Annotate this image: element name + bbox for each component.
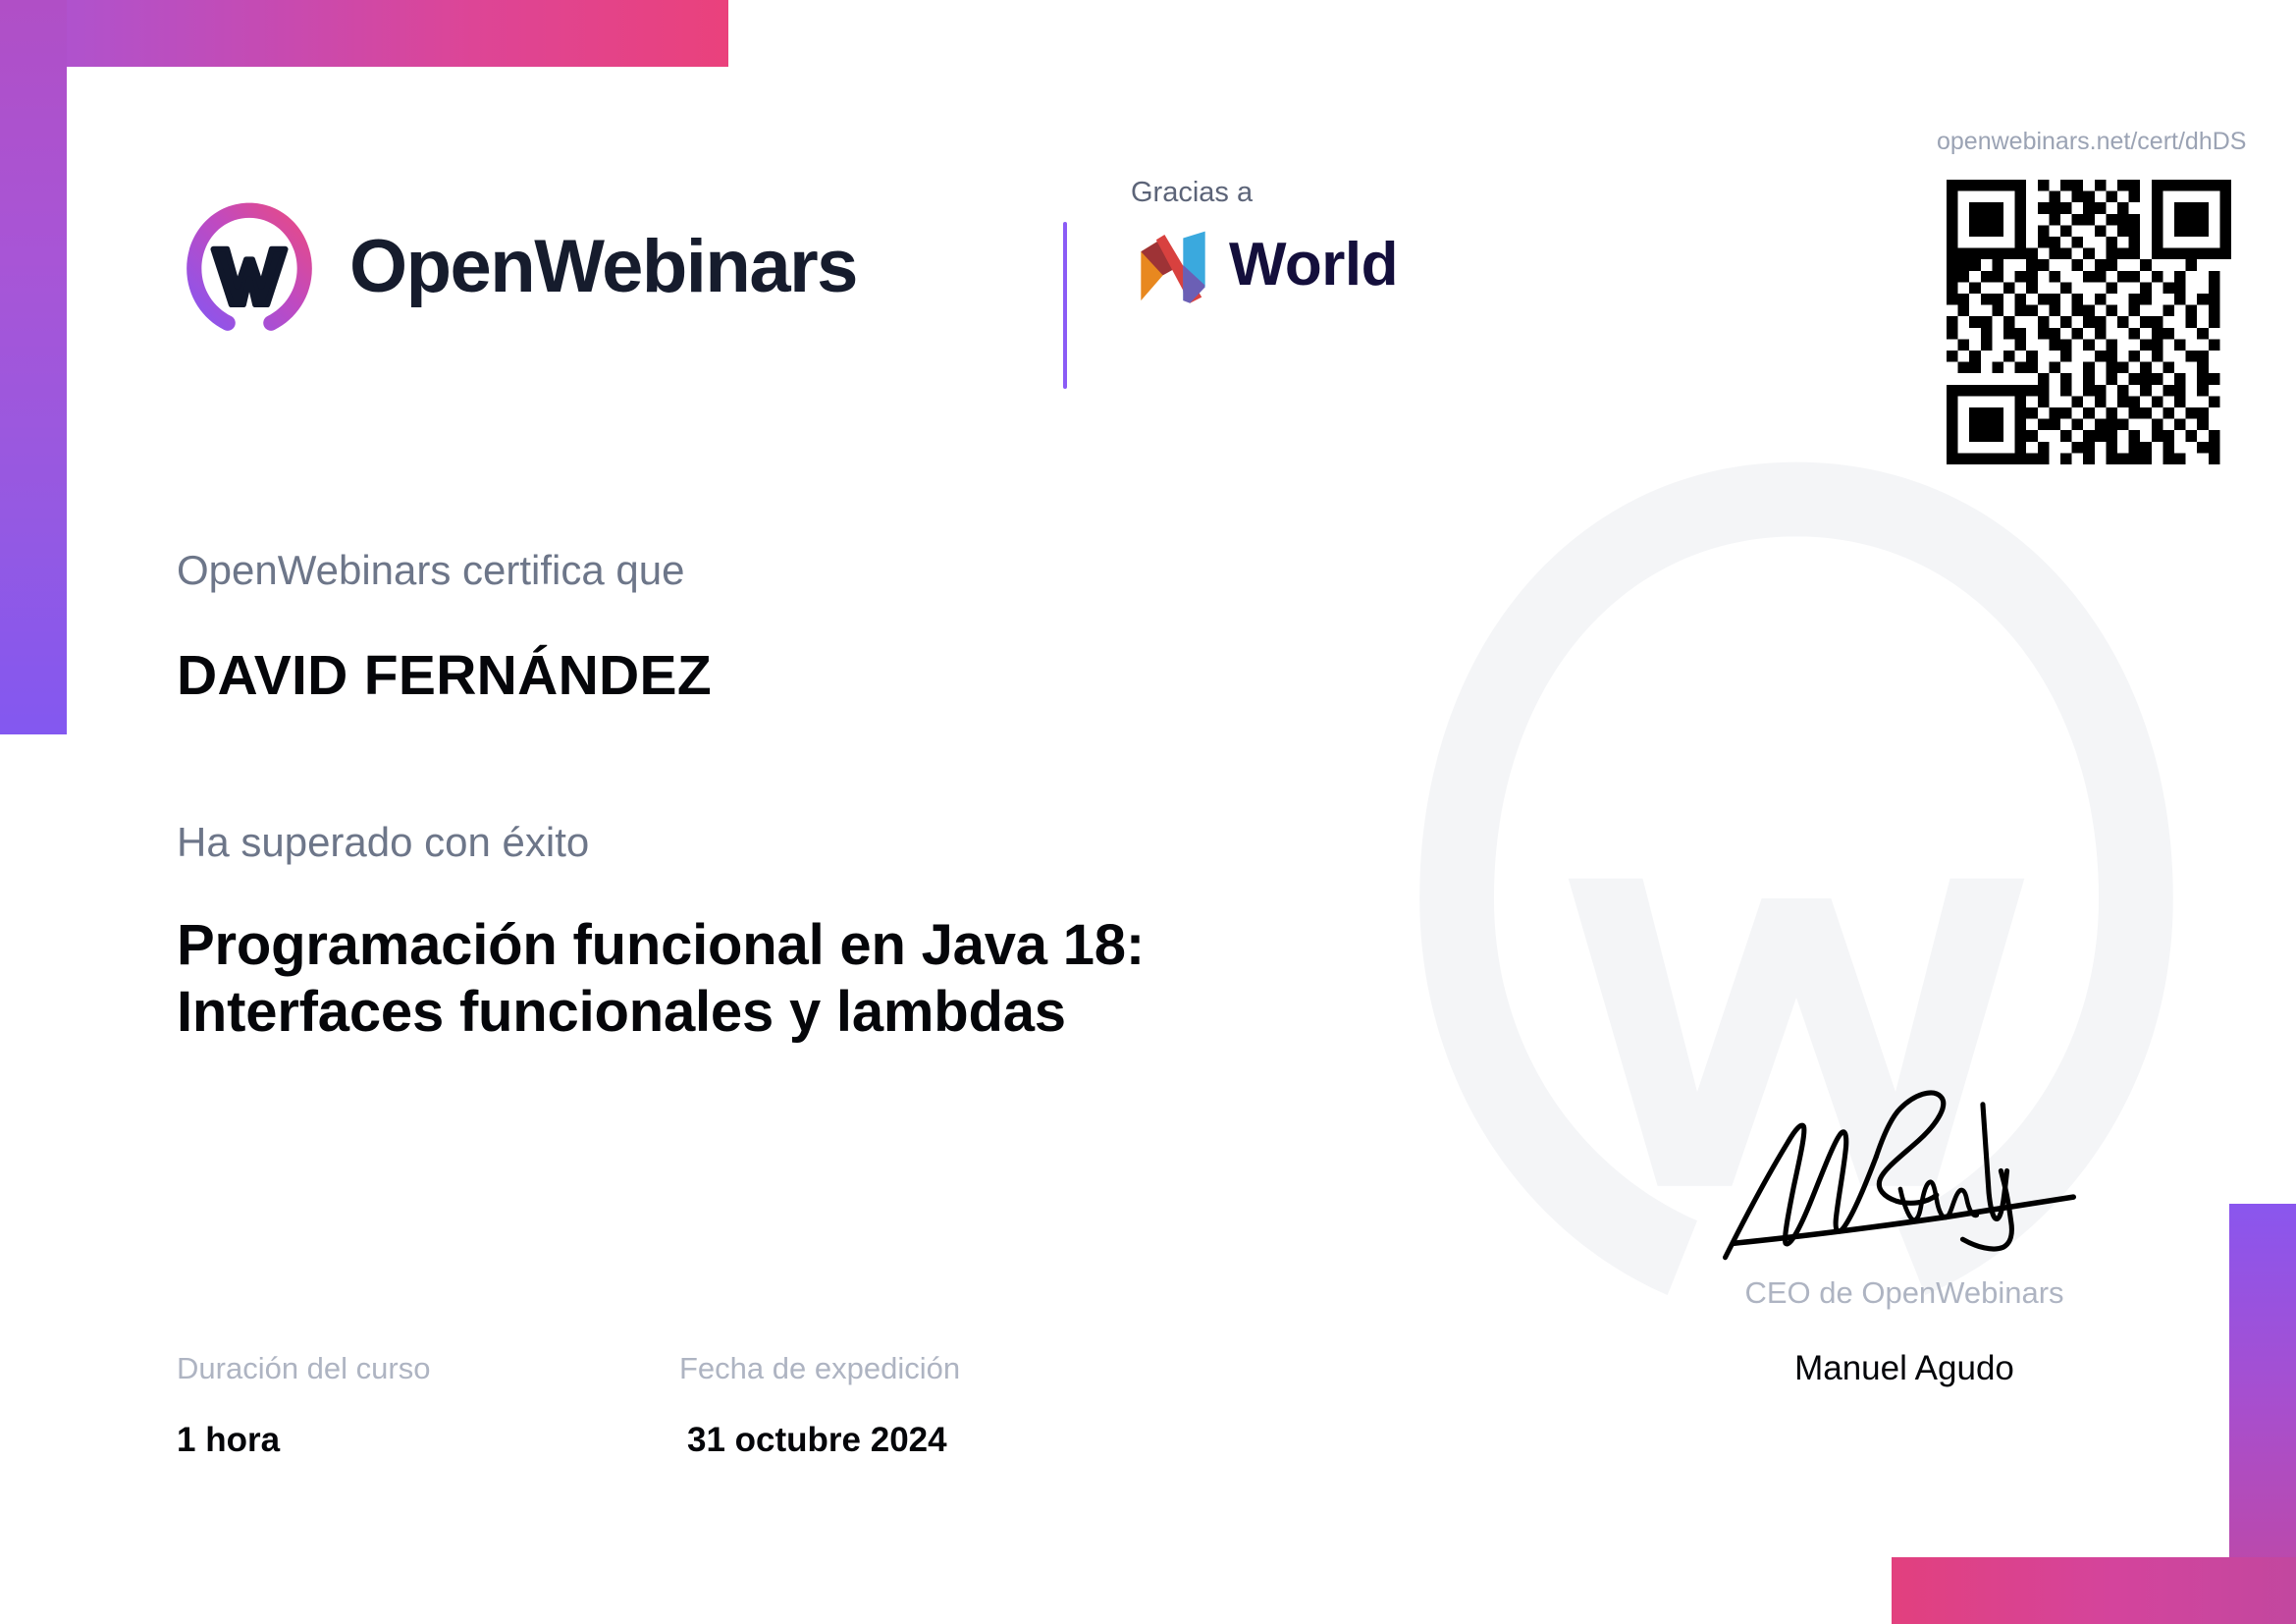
duration-label: Duración del curso: [177, 1353, 679, 1383]
signature-name: Manuel Agudo: [1674, 1351, 2135, 1385]
openwebinars-w-logo-icon: [175, 192, 324, 342]
duration-value: 1 hora: [177, 1423, 679, 1457]
openwebinars-wordmark: OpenWebinars: [349, 230, 857, 304]
certificate-body: OpenWebinars certifica que DAVID FERNÁND…: [177, 550, 1276, 1047]
n-world-logo-icon: [1131, 223, 1215, 307]
header-divider: [1063, 222, 1067, 389]
meta-duration: Duración del curso 1 hora: [177, 1353, 679, 1457]
certify-label: OpenWebinars certifica que: [177, 550, 1276, 591]
issued-label: Fecha de expedición: [679, 1353, 960, 1383]
signature-icon: [1674, 1070, 2135, 1272]
signature-role: CEO de OpenWebinars: [1674, 1277, 2135, 1308]
verification-block: openwebinars.net/cert/dhDS: [1937, 130, 2241, 464]
verification-url: openwebinars.net/cert/dhDS: [1937, 130, 2241, 154]
meta-issued-date: Fecha de expedición 31 octubre 2024: [679, 1353, 960, 1457]
signature-block: CEO de OpenWebinars Manuel Agudo: [1674, 1070, 2135, 1385]
certificate-header: OpenWebinars Gracias a World openwebinar…: [0, 0, 2296, 422]
sponsor-block: Gracias a World: [1131, 179, 1398, 307]
openwebinars-brand: OpenWebinars: [175, 192, 857, 342]
sponsor-label: Gracias a: [1131, 179, 1398, 207]
issued-value: 31 octubre 2024: [687, 1423, 960, 1457]
completion-label: Ha superado con éxito: [177, 822, 1276, 863]
qr-code-icon[interactable]: [1937, 180, 2241, 464]
certificate-meta: Duración del curso 1 hora Fecha de exped…: [177, 1353, 960, 1457]
corner-decoration-bottom-right-horizontal: [1892, 1557, 2296, 1624]
sponsor-name: World: [1229, 235, 1398, 296]
course-title: Programación funcional en Java 18: Inter…: [177, 912, 1178, 1047]
recipient-name: DAVID FERNÁNDEZ: [177, 648, 1276, 704]
